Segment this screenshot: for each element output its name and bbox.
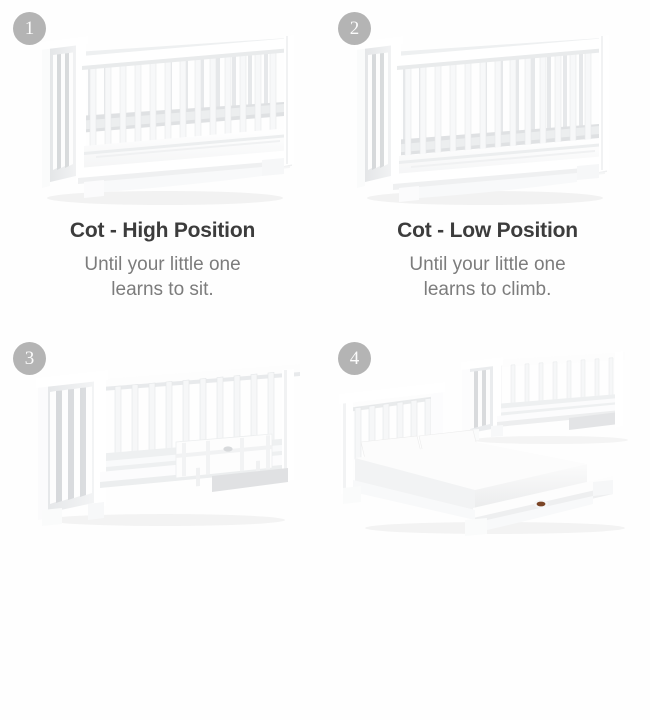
step-badge-1: 1 — [13, 12, 46, 45]
panel-description: Until your little one learns to climb. — [325, 252, 650, 302]
description-line: Until your little one — [325, 252, 650, 277]
panel-toddler-bed[interactable]: 3 — [0, 330, 325, 720]
caption-cot-high-position: Cot - High Position Until your little on… — [0, 218, 325, 302]
description-line: learns to sit. — [0, 277, 325, 302]
step-badge-2: 2 — [338, 12, 371, 45]
conversion-stages-grid: 1 — [0, 0, 650, 720]
cot-low-position-svg — [325, 0, 650, 215]
cot-high-position-svg — [0, 0, 325, 215]
panel-double-bed-and-sofa[interactable]: 4 — [325, 330, 650, 720]
step-badge-4: 4 — [338, 342, 371, 375]
toddler-bed-svg — [0, 342, 325, 542]
brand-logo-icon — [537, 502, 546, 507]
panel-title: Cot - Low Position — [325, 218, 650, 244]
double-bed-and-sofa-svg — [325, 342, 650, 542]
double-bed-and-sofa-illustration — [325, 330, 650, 720]
sofa-illustration — [461, 351, 628, 444]
caption-cot-low-position: Cot - Low Position Until your little one… — [325, 218, 650, 302]
description-line: Until your little one — [0, 252, 325, 277]
panel-cot-high-position[interactable]: 1 — [0, 0, 325, 330]
panel-description: Until your little one learns to sit. — [0, 252, 325, 302]
toddler-bed-illustration — [0, 330, 325, 720]
panel-title: Cot - High Position — [0, 218, 325, 244]
description-line: learns to climb. — [325, 277, 650, 302]
step-badge-3: 3 — [13, 342, 46, 375]
panel-cot-low-position[interactable]: 2 — [325, 0, 650, 330]
